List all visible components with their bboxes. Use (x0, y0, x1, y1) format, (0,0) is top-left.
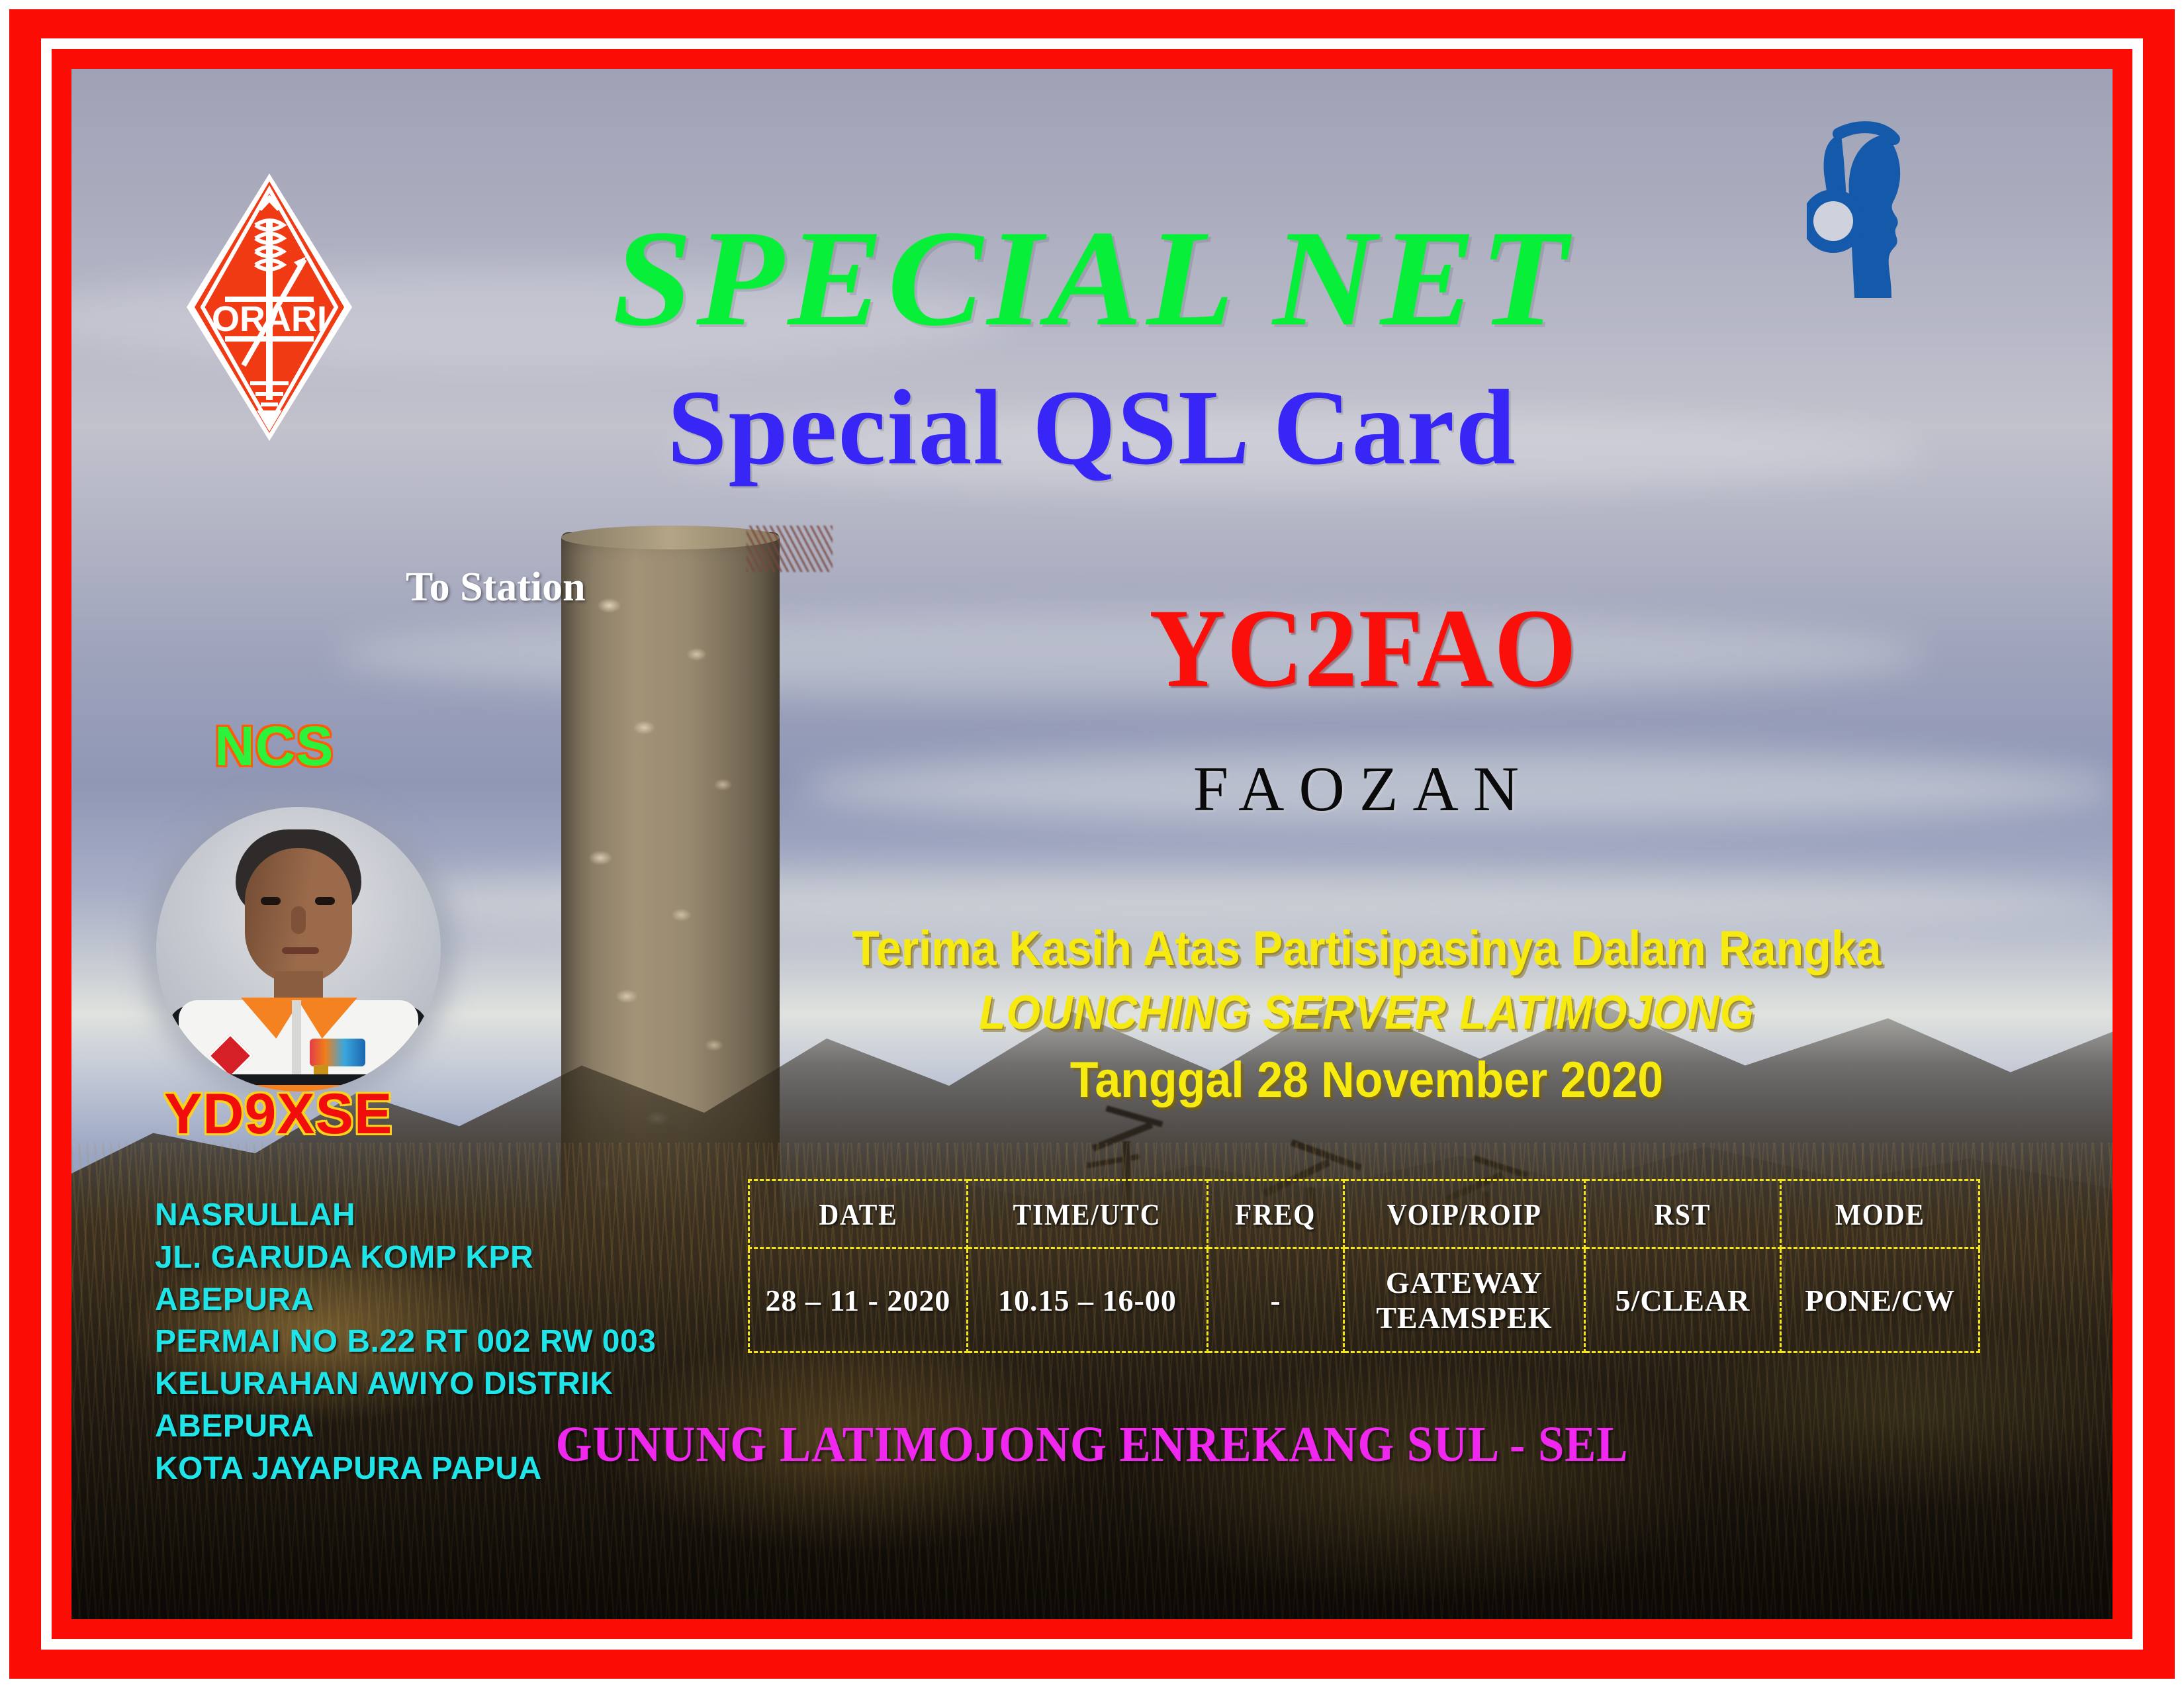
address-line: ABEPURA (155, 1279, 724, 1321)
ncs-label: NCS (214, 714, 334, 778)
mountain-caption: GUNUNG LATIMOJONG ENREKANG SUL - SEL (143, 1419, 2041, 1470)
table-cell-freq: - (1207, 1248, 1343, 1352)
avatar-nose (291, 906, 306, 934)
operator-name: FAOZAN (899, 757, 1828, 821)
avatar-eye-left (261, 897, 281, 905)
table-row: 28 – 11 - 2020 10.15 – 16-00 - GATEWAY T… (749, 1248, 1979, 1352)
station-callsign: YC2FAO (927, 592, 1800, 704)
qsl-card: ORARI SPECIAL NET Special QSL Card (0, 0, 2184, 1688)
to-station-label: To Station (406, 564, 586, 611)
table-cell-voip-line1: GATEWAY (1345, 1265, 1582, 1300)
avatar-mouth (282, 947, 319, 954)
table-header-time: TIME/UTC (979, 1180, 1196, 1248)
avatar: YD9XSE (156, 807, 441, 1092)
address-line: KELURAHAN AWIYO DISTRIK (155, 1363, 724, 1405)
table-header-freq: FREQ (1214, 1180, 1338, 1248)
address-line: JL. GARUDA KOMP KPR (155, 1237, 724, 1279)
table-header-date: DATE (760, 1180, 956, 1248)
address-line: PERMAI NO B.22 RT 002 RW 003 (155, 1321, 724, 1363)
page-subtitle: Special QSL Card (71, 375, 2113, 482)
club-shirt-badge-icon (310, 1039, 365, 1066)
table-header-mode: MODE (1791, 1180, 1970, 1248)
table-cell-mode: PONE/CW (1781, 1248, 1979, 1352)
event-date-line: Tanggal 28 November 2020 (802, 1055, 1931, 1105)
thanks-line-1: Terima Kasih Atas Partisipasinya Dalam R… (802, 924, 1931, 973)
ncs-callsign: YD9XSE (164, 1082, 392, 1147)
table-cell-voip-line2: TEAMSPEK (1345, 1300, 1582, 1335)
page-title: SPECIAL NET (71, 209, 2113, 347)
table-header-row: DATE TIME/UTC FREQ VOIP/ROIP RST MODE (749, 1180, 1979, 1248)
address-line: NASRULLAH (155, 1194, 724, 1237)
table-header-rst: RST (1594, 1180, 1771, 1248)
card-photo-area: ORARI SPECIAL NET Special QSL Card (71, 69, 2113, 1619)
table-header-voip: VOIP/ROIP (1356, 1180, 1572, 1248)
qso-details-table: DATE TIME/UTC FREQ VOIP/ROIP RST MODE 28… (748, 1179, 1980, 1353)
table-cell-date: 28 – 11 - 2020 (749, 1248, 968, 1352)
table-cell-voip: GATEWAY TEAMSPEK (1344, 1248, 1584, 1352)
thanks-line-2: LOUNCHING SERVER LATIMOJONG (802, 989, 1931, 1037)
table-cell-time: 10.15 – 16-00 (967, 1248, 1207, 1352)
table-cell-rst: 5/CLEAR (1584, 1248, 1781, 1352)
avatar-eye-right (315, 897, 335, 905)
pillar-grass-tuft (747, 526, 833, 572)
